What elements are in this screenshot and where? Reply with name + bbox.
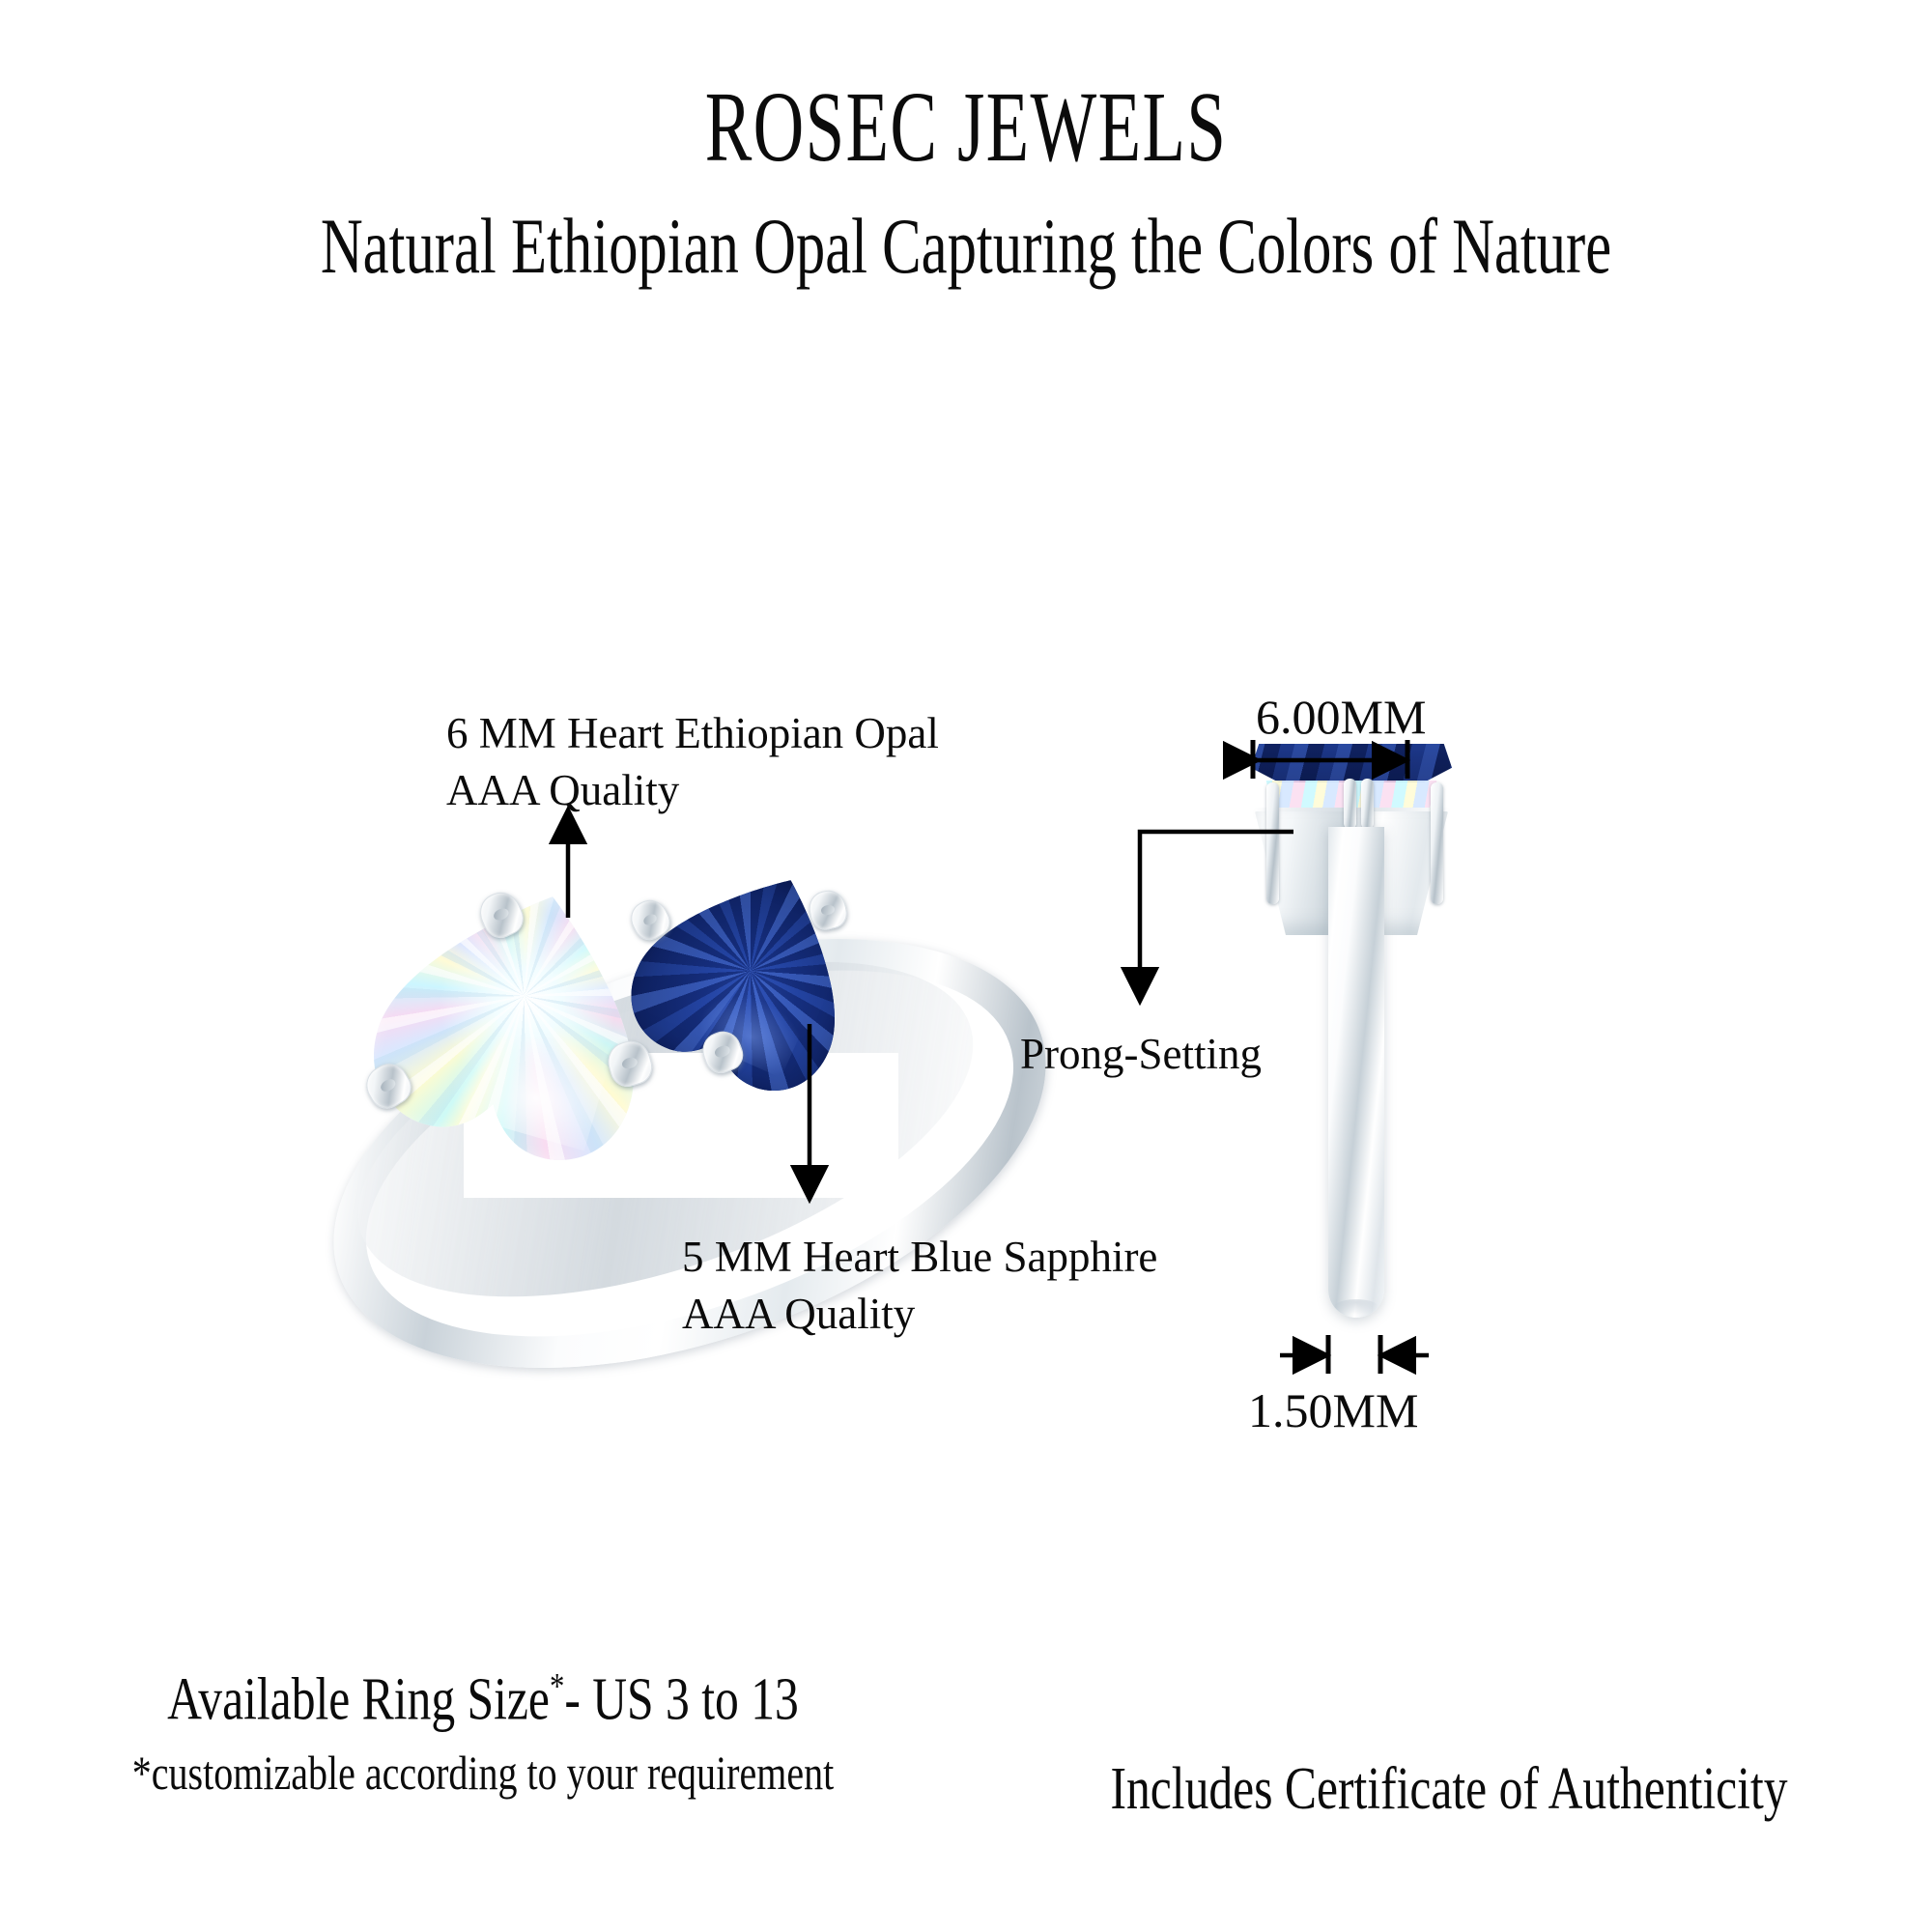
side-prong-inner-left bbox=[1344, 779, 1356, 829]
footer-ring-size-block: Available Ring Size*- US 3 to 13 *custom… bbox=[0, 1667, 966, 1799]
side-shank-shadow bbox=[1334, 1299, 1378, 1315]
prong-notch bbox=[620, 1056, 639, 1071]
tagline: Natural Ethiopian Opal Capturing the Col… bbox=[251, 205, 1681, 288]
prong-notch bbox=[641, 912, 658, 926]
ring-size-label: Available Ring Size bbox=[167, 1667, 550, 1733]
side-view-shank bbox=[1328, 827, 1384, 1318]
opal-annotation-line2: AAA Quality bbox=[446, 762, 939, 819]
ring-size-asterisk: * bbox=[550, 1666, 564, 1707]
opal-annotation: 6 MM Heart Ethiopian Opal AAA Quality bbox=[446, 705, 939, 818]
side-prong-inner-right bbox=[1361, 779, 1374, 829]
side-sapphire-facets bbox=[1251, 744, 1452, 782]
prong-notch bbox=[820, 903, 836, 916]
opal-annotation-line1: 6 MM Heart Ethiopian Opal bbox=[446, 709, 939, 757]
prong-notch bbox=[492, 906, 510, 923]
side-prong-outer-right bbox=[1431, 782, 1443, 904]
ring-size-value: - US 3 to 13 bbox=[564, 1667, 799, 1733]
infographic-canvas: ROSEC JEWELS Natural Ethiopian Opal Capt… bbox=[0, 0, 1932, 1932]
side-view-sapphire bbox=[1251, 744, 1452, 782]
prong-setting-annotation: Prong-Setting bbox=[1020, 1026, 1262, 1083]
head-width-value: 6.00MM bbox=[1256, 690, 1426, 744]
prong-setting-label: Prong-Setting bbox=[1020, 1030, 1262, 1078]
head-width-dimension-label: 6.00MM bbox=[1256, 686, 1426, 749]
certificate-note: Includes Certificate of Authenticity bbox=[1063, 1758, 1835, 1822]
band-width-value: 1.50MM bbox=[1248, 1383, 1418, 1437]
side-prong-outer-left bbox=[1266, 782, 1279, 904]
prong-notch bbox=[379, 1077, 398, 1094]
ring-perspective-view bbox=[319, 850, 1014, 1275]
customizable-note: *customizable according to your requirem… bbox=[97, 1747, 869, 1799]
sapphire-annotation: 5 MM Heart Blue Sapphire AAA Quality bbox=[682, 1229, 1157, 1342]
sapphire-annotation-line2: AAA Quality bbox=[682, 1286, 1157, 1343]
ring-size-line: Available Ring Size*- US 3 to 13 bbox=[97, 1667, 869, 1732]
sapphire-annotation-line1: 5 MM Heart Blue Sapphire bbox=[682, 1233, 1157, 1281]
brand-title: ROSEC JEWELS bbox=[290, 75, 1642, 180]
prong-notch bbox=[714, 1044, 731, 1059]
band-width-dimension-label: 1.50MM bbox=[1248, 1379, 1418, 1442]
